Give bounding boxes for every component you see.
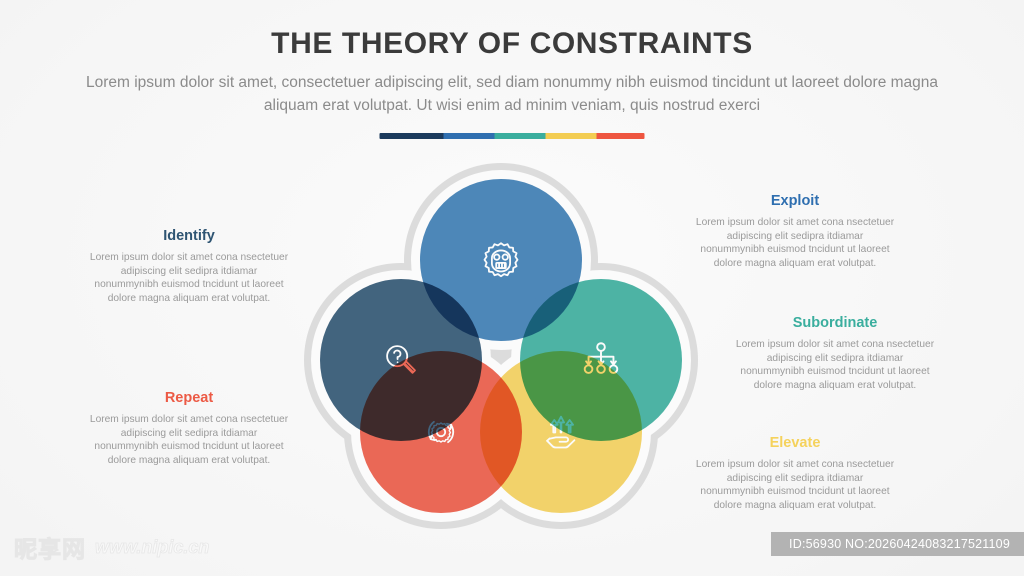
watermark-url-text: www.nipic.cn <box>95 537 209 558</box>
step-block-elevate: Elevate Lorem ipsum dolor sit amet cona … <box>695 435 895 512</box>
step-body-subordinate: Lorem ipsum dolor sit amet cona nsectetu… <box>735 338 935 392</box>
step-body-identify: Lorem ipsum dolor sit amet cona nsectetu… <box>89 251 289 305</box>
step-body-repeat: Lorem ipsum dolor sit amet cona nsectetu… <box>89 413 289 467</box>
site-watermark: 昵享网 www.nipic.cn <box>14 530 209 564</box>
step-block-exploit: Exploit Lorem ipsum dolor sit amet cona … <box>695 193 895 270</box>
divider-segment-3 <box>494 133 545 139</box>
magnifier-question-icon <box>378 337 424 383</box>
step-block-repeat: Repeat Lorem ipsum dolor sit amet cona n… <box>89 390 289 467</box>
divider-segment-1 <box>380 133 444 139</box>
image-id-badge: ID:56930 NO:20260424083217521109 <box>771 532 1024 556</box>
divider-segment-4 <box>545 133 596 139</box>
watermark-logo-text: 昵享网 <box>14 530 86 564</box>
step-body-exploit: Lorem ipsum dolor sit amet cona nsectetu… <box>695 216 895 270</box>
five-circle-diagram <box>296 163 706 529</box>
step-label-identify: Identify <box>89 228 289 244</box>
page-subtitle: Lorem ipsum dolor sit amet, consectetuer… <box>62 72 962 117</box>
step-label-elevate: Elevate <box>695 435 895 451</box>
step-label-exploit: Exploit <box>695 193 895 209</box>
step-body-elevate: Lorem ipsum dolor sit amet cona nsectetu… <box>695 458 895 512</box>
step-block-subordinate: Subordinate Lorem ipsum dolor sit amet c… <box>735 315 935 392</box>
step-label-subordinate: Subordinate <box>735 315 935 331</box>
infographic-canvas: THE THEORY OF CONSTRAINTS Lorem ipsum do… <box>0 0 1024 576</box>
robot-gear-icon <box>478 237 524 283</box>
step-block-identify: Identify Lorem ipsum dolor sit amet cona… <box>89 228 289 305</box>
page-title: THE THEORY OF CONSTRAINTS <box>0 27 1024 61</box>
divider-segment-2 <box>443 133 494 139</box>
hand-up-arrows-icon <box>538 409 584 455</box>
step-label-repeat: Repeat <box>89 390 289 406</box>
color-divider-bar <box>380 133 645 139</box>
circle-identify[interactable] <box>320 279 482 441</box>
divider-segment-5 <box>596 133 644 139</box>
